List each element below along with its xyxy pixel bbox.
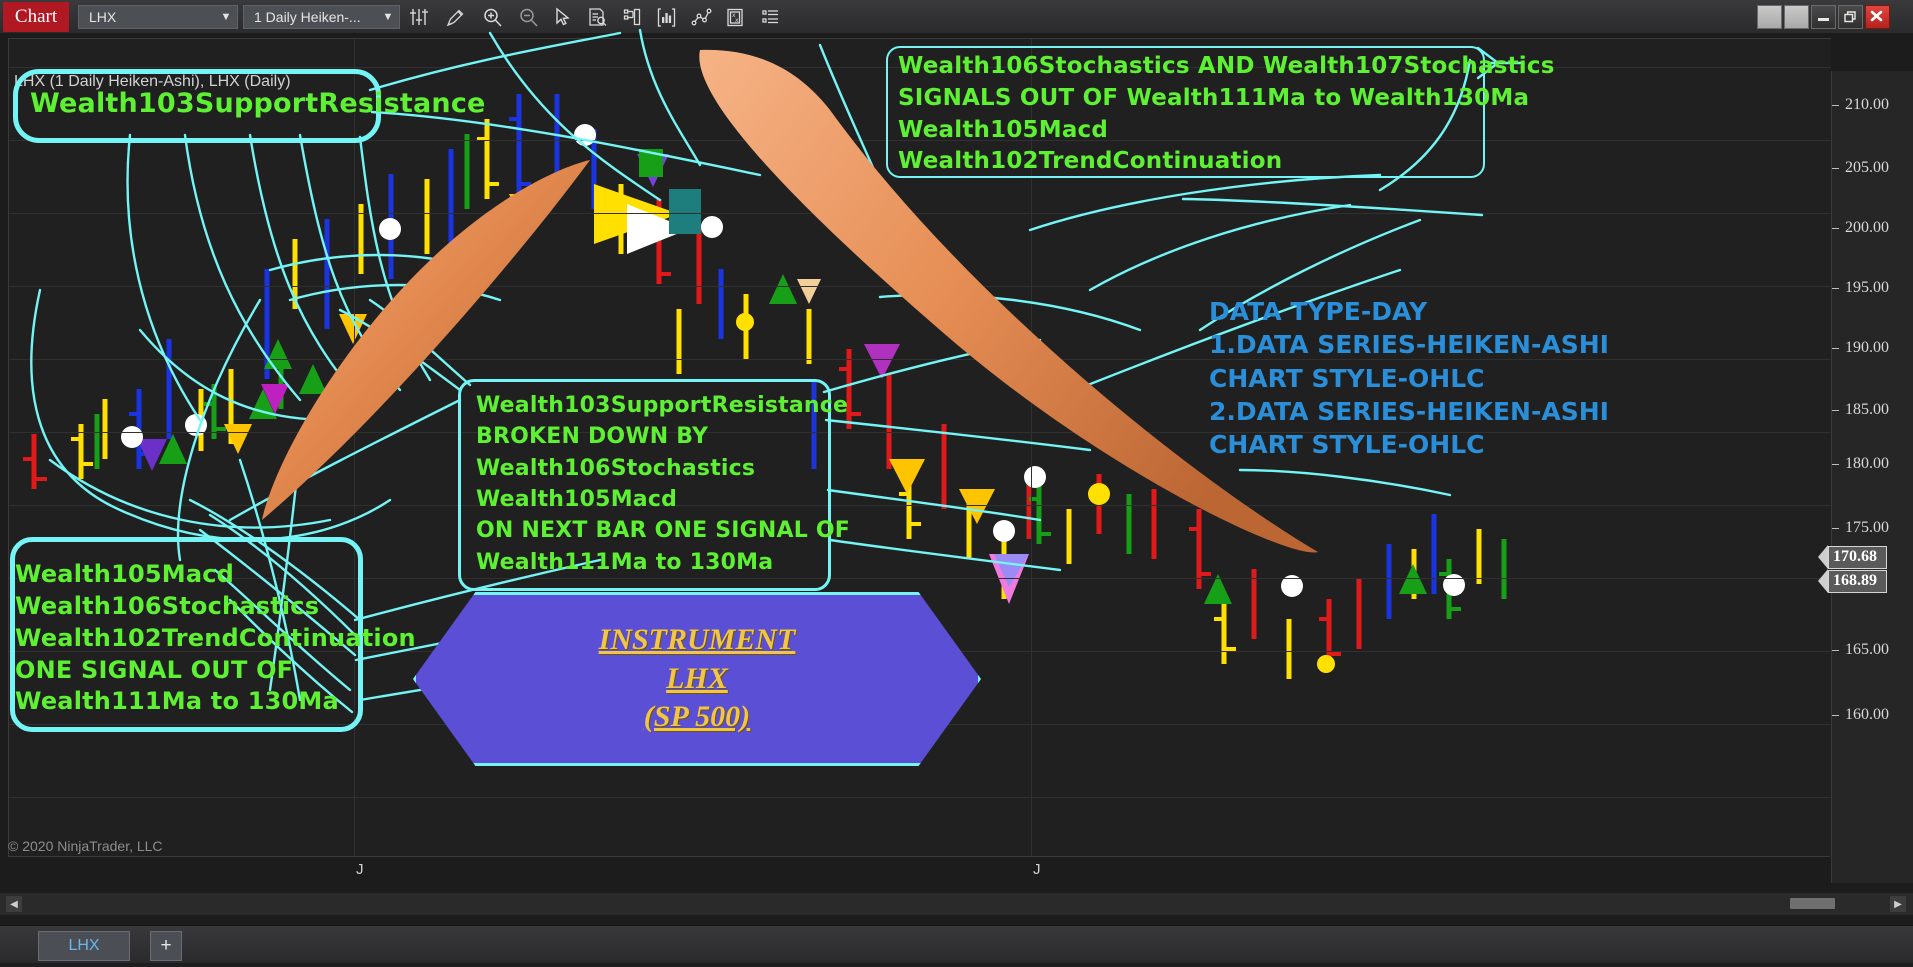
data-box-icon[interactable]	[582, 3, 613, 31]
scroll-right-icon[interactable]: ▶	[1890, 896, 1906, 912]
zoom-in-icon[interactable]	[477, 3, 508, 31]
price-tick: 185.00	[1845, 401, 1889, 419]
time-axis[interactable]: J J	[8, 856, 1830, 887]
instrument-select-value: LHX	[89, 9, 215, 25]
drawing-pencil-icon[interactable]	[440, 3, 471, 31]
chevron-down-icon: ▼	[377, 11, 399, 23]
strategies-icon[interactable]	[686, 3, 717, 31]
scroll-left-icon[interactable]: ◀	[6, 896, 22, 912]
chart-trader-icon[interactable]	[617, 3, 648, 31]
price-tick: 195.00	[1845, 279, 1889, 297]
restore-button[interactable]	[1838, 5, 1863, 29]
price-tick: 210.00	[1845, 96, 1889, 114]
chart-window: Chart LHX ▼ 1 Daily Heiken-... ▼	[0, 0, 1913, 962]
last-price-tag[interactable]: 170.68	[1818, 545, 1887, 569]
time-tick: J	[1033, 861, 1041, 878]
price-tick: 205.00	[1845, 159, 1889, 177]
workspace-tab-lhx[interactable]: LHX	[38, 931, 130, 961]
interval-select-value: 1 Daily Heiken-...	[254, 9, 377, 25]
chart-header-label: LHX (1 Daily Heiken-Ashi), LHX (Daily)	[14, 73, 291, 91]
last-price-value: 170.68	[1828, 546, 1887, 569]
price-tick: 180.00	[1845, 455, 1889, 473]
time-tick: J	[356, 861, 364, 878]
svg-text:x: x	[735, 17, 739, 24]
workspace-tab-bar: LHX +	[0, 925, 1913, 963]
chart-area[interactable]: LHX (1 Daily Heiken-Ashi), LHX (Daily) ©…	[0, 33, 1913, 925]
chart-tab[interactable]: Chart	[3, 2, 69, 32]
price-axis[interactable]: 210.00 205.00 200.00 195.00 190.00 185.0…	[1831, 71, 1913, 883]
copyright-label: © 2020 NinjaTrader, LLC	[8, 838, 163, 854]
cursor-arrow-icon[interactable]	[546, 3, 577, 31]
scrollbar-thumb[interactable]	[1790, 898, 1835, 909]
chevron-down-icon: ▼	[215, 11, 237, 23]
window-button-blank-2[interactable]	[1784, 5, 1809, 29]
price-tick: 175.00	[1845, 519, 1889, 537]
last-price-value: 168.89	[1828, 570, 1887, 593]
price-tick: 200.00	[1845, 219, 1889, 237]
ohlc-bars	[9, 39, 1831, 856]
zoom-out-icon[interactable]	[513, 3, 544, 31]
list-icon[interactable]	[755, 3, 786, 31]
add-tab-button[interactable]: +	[150, 931, 182, 961]
price-tick: 160.00	[1845, 706, 1889, 724]
price-tick: 190.00	[1845, 339, 1889, 357]
price-plot[interactable]	[8, 38, 1831, 856]
indicators-icon[interactable]	[651, 3, 682, 31]
horizontal-scrollbar[interactable]: ◀ ▶	[0, 893, 1913, 915]
close-button[interactable]	[1865, 5, 1890, 29]
minimize-button[interactable]	[1811, 5, 1836, 29]
title-bar: Chart LHX ▼ 1 Daily Heiken-... ▼	[0, 0, 1913, 34]
data-series-icon[interactable]	[403, 3, 434, 31]
interval-select[interactable]: 1 Daily Heiken-... ▼	[243, 5, 400, 29]
last-price-tag[interactable]: 168.89	[1818, 569, 1887, 593]
instrument-select[interactable]: LHX ▼	[78, 5, 238, 29]
window-button-blank-1[interactable]	[1757, 5, 1782, 29]
properties-icon[interactable]: x x	[720, 3, 751, 31]
price-tick: 165.00	[1845, 641, 1889, 659]
